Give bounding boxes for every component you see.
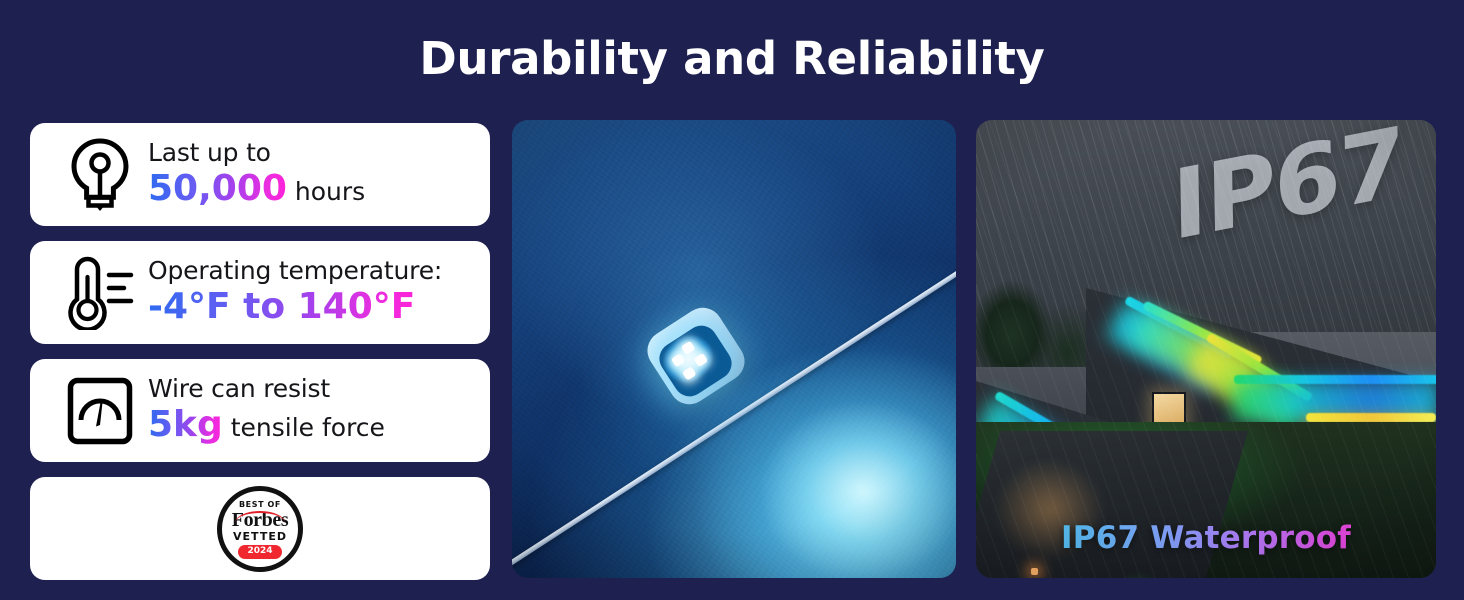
- feature-value: -4°F to 140°F: [148, 286, 415, 327]
- house-rgb-lights-rain: IP67: [976, 120, 1436, 578]
- feature-line-1: Wire can resist: [148, 373, 385, 404]
- feature-card-award: BEST OF Forbes VETTED 2024: [30, 477, 490, 580]
- led-chip: [671, 353, 686, 367]
- feature-card-tensile: Wire can resist 5kg tensile force: [30, 359, 490, 462]
- feature-value: 50,000: [148, 168, 287, 209]
- feature-card-text: Operating temperature: -4°F to 140°F: [148, 255, 442, 331]
- feature-value: 5kg: [148, 404, 223, 445]
- led-chip: [693, 353, 708, 367]
- feature-suffix: tensile force: [223, 413, 385, 442]
- thermometer-icon: [52, 256, 148, 330]
- led-point-light-closeup: [512, 120, 956, 578]
- marketing-banner: Durability and Reliability Last up to 50…: [0, 0, 1464, 600]
- badge-top-text: BEST OF: [222, 500, 298, 509]
- feature-card-temperature: Operating temperature: -4°F to 140°F: [30, 241, 490, 344]
- gauge-icon: [52, 377, 148, 445]
- badge-year: 2024: [238, 545, 281, 559]
- feature-card-lifespan: Last up to 50,000 hours: [30, 123, 490, 226]
- feature-line-2: 5kg tensile force: [148, 404, 385, 449]
- waterproof-caption: IP67 Waterproof: [976, 520, 1436, 556]
- rain-streaks-foreground: [976, 120, 1436, 578]
- badge-subtitle: VETTED: [233, 530, 287, 543]
- led-chip: [682, 366, 697, 380]
- led-chip: [681, 341, 696, 355]
- feature-card-list: Last up to 50,000 hours Operating temper…: [30, 123, 490, 595]
- feature-card-text: Wire can resist 5kg tensile force: [148, 373, 385, 449]
- forbes-vetted-badge: BEST OF Forbes VETTED 2024: [217, 486, 303, 572]
- page-title: Durability and Reliability: [0, 32, 1464, 85]
- feature-line-1: Last up to: [148, 137, 365, 168]
- feature-line-2: 50,000 hours: [148, 168, 365, 213]
- lightbulb-icon: [52, 138, 148, 212]
- feature-card-text: Last up to 50,000 hours: [148, 137, 365, 213]
- feature-suffix: hours: [287, 177, 365, 206]
- feature-line-2: -4°F to 140°F: [148, 286, 442, 331]
- feature-line-1: Operating temperature:: [148, 255, 442, 286]
